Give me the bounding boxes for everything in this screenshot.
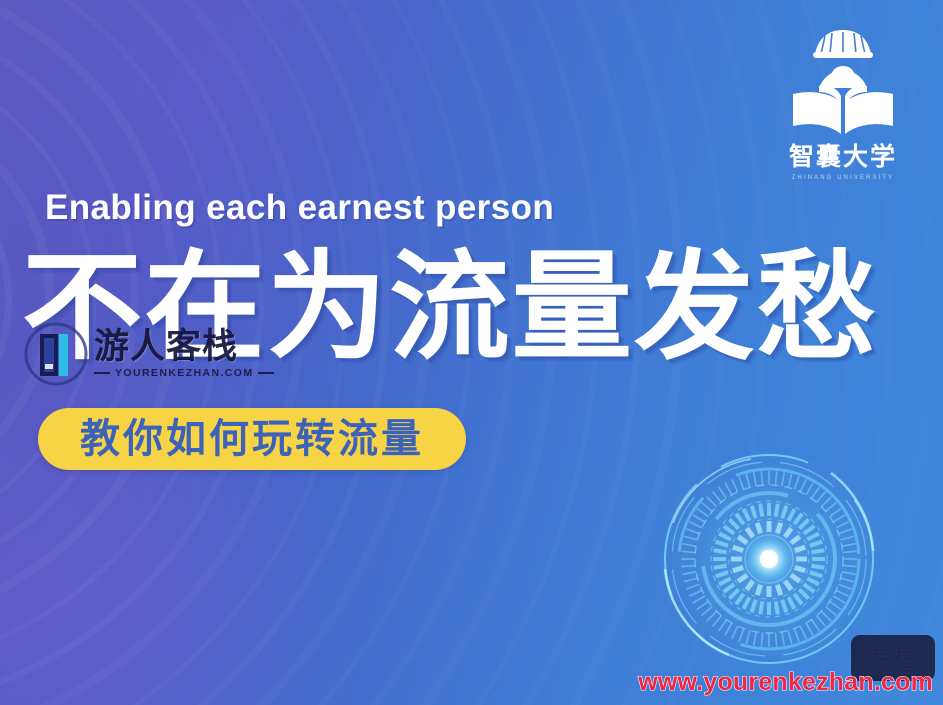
university-logo: 智囊大学 ZHINANG UNIVERSITY — [773, 22, 913, 181]
bottom-watermark-bar: 专栏 www.yourenkezhan.com — [0, 657, 943, 705]
subtitle-pill: 教你如何玩转流量 — [38, 408, 466, 470]
headline-text: 不在为流量发愁 — [22, 246, 879, 370]
poster-canvas: 智囊大学 ZHINANG UNIVERSITY Enabling each ea… — [0, 0, 943, 705]
bottom-site-url: www.yourenkezhan.com — [638, 668, 933, 697]
eyebrow-text: Enabling each earnest person — [45, 188, 554, 228]
graduation-cap-open-book-icon — [773, 22, 913, 142]
logo-cn-name: 智囊大学 — [773, 144, 913, 169]
subtitle-pill-label: 教你如何玩转流量 — [80, 419, 424, 459]
column-badge-label: 专栏 — [867, 646, 919, 671]
logo-en-name: ZHINANG UNIVERSITY — [773, 175, 913, 181]
